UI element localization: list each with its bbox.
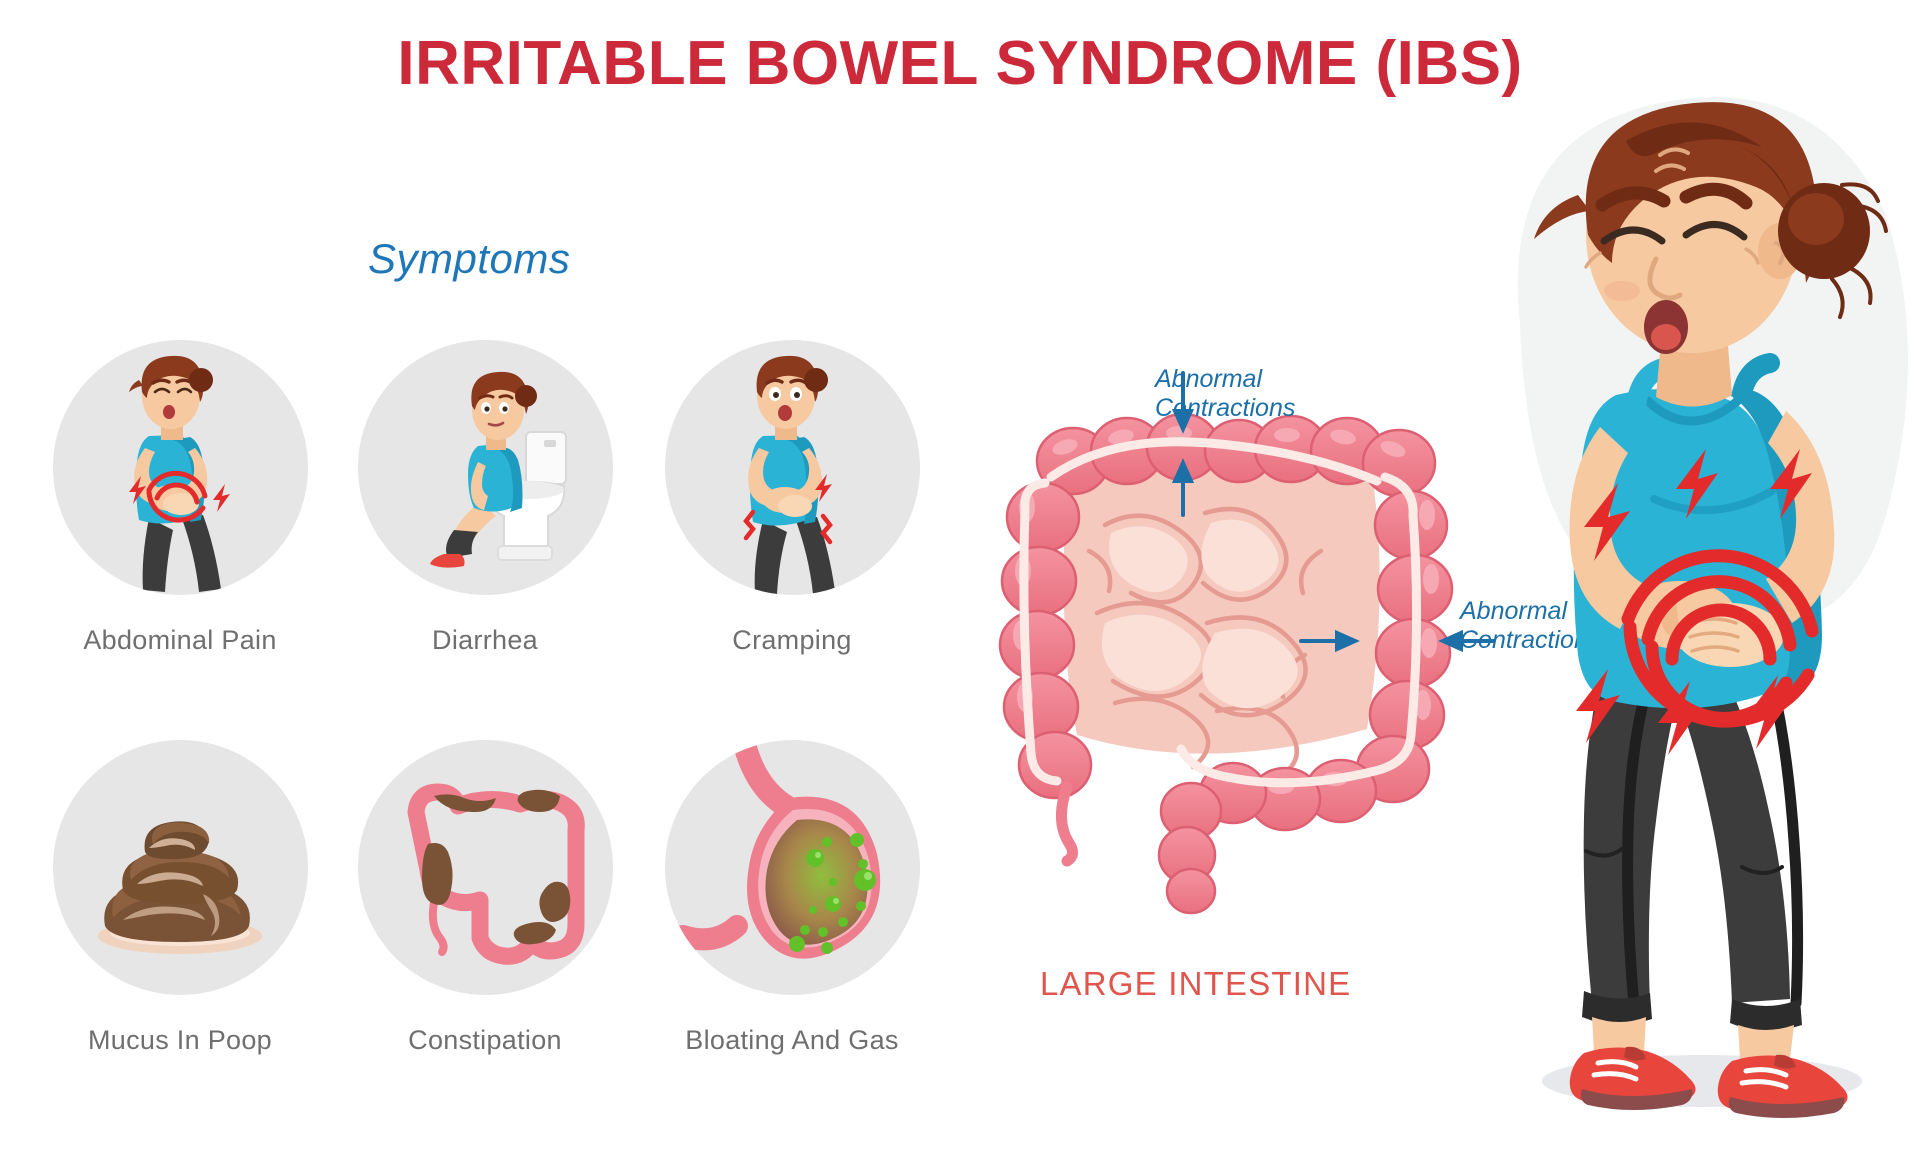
- symptom-card-cramping[interactable]: Cramping: [642, 340, 942, 700]
- symptom-card-constipation[interactable]: Constipation: [335, 740, 635, 1100]
- large-intestine-illustration: [955, 355, 1475, 915]
- symptom-icon-disc: [358, 740, 613, 995]
- symptoms-grid: Abdominal Pain: [30, 340, 960, 1100]
- symptom-label: Constipation: [335, 1025, 635, 1056]
- large-intestine-label: LARGE INTESTINE: [1040, 965, 1351, 1003]
- annotation-abnormal-contractions-top: Abnormal Contractions: [1155, 365, 1295, 423]
- symptom-label: Bloating And Gas: [642, 1025, 942, 1056]
- symptom-label: Abdominal Pain: [30, 625, 330, 656]
- symptoms-heading: Symptoms: [368, 235, 570, 283]
- symptom-icon-disc: [358, 340, 613, 595]
- stool-with-mucus-icon: [53, 740, 308, 995]
- colon-with-stool-icon: [358, 740, 613, 995]
- large-intestine-diagram: [955, 355, 1475, 915]
- symptom-card-abdominal-pain[interactable]: Abdominal Pain: [30, 340, 330, 700]
- woman-on-toilet-icon: [358, 340, 613, 595]
- stomach-with-gas-icon: [665, 740, 920, 995]
- infographic-canvas: IRRITABLE BOWEL SYNDROME (IBS) Symptoms: [0, 0, 1920, 1152]
- woman-with-abdominal-pain-illustration: [1480, 75, 1920, 1145]
- symptom-label: Mucus In Poop: [30, 1025, 330, 1056]
- symptom-card-diarrhea[interactable]: Diarrhea: [335, 340, 635, 700]
- symptom-icon-disc: [53, 340, 308, 595]
- symptom-icon-disc: [53, 740, 308, 995]
- symptom-icon-disc: [665, 340, 920, 595]
- annotation-line-2: Contractions: [1155, 394, 1295, 423]
- woman-figure: [1480, 75, 1920, 1145]
- woman-cramping-icon: [665, 340, 920, 595]
- symptom-label: Cramping: [642, 625, 942, 656]
- symptom-card-mucus-in-poop[interactable]: Mucus In Poop: [30, 740, 330, 1100]
- symptom-label: Diarrhea: [335, 625, 635, 656]
- annotation-line-1: Abnormal: [1155, 365, 1295, 394]
- woman-holding-abdomen-icon: [53, 340, 308, 595]
- symptom-icon-disc: [665, 740, 920, 995]
- symptom-card-bloating-and-gas[interactable]: Bloating And Gas: [642, 740, 942, 1100]
